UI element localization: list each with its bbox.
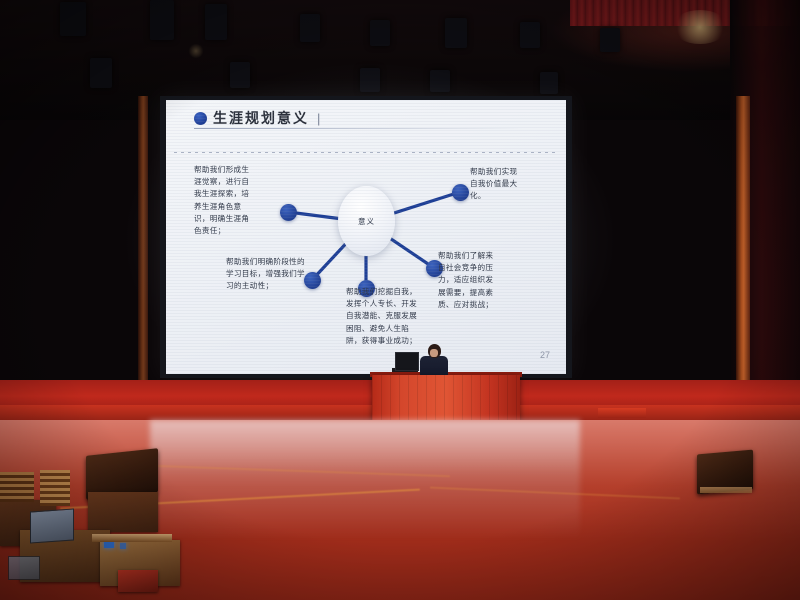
auditorium-scene: 生涯规划意义 | 意义 帮助我们形成生涯觉察，进行自我生涯探索，培养生涯角色意识… <box>0 0 800 600</box>
stage-light <box>540 72 558 94</box>
node-text-left: 帮助我们形成生涯觉察，进行自我生涯探索，培养生涯角色意识，明确生涯角色责任； <box>194 164 256 237</box>
slide-page-number: 27 <box>540 350 550 360</box>
stage-light <box>600 28 620 52</box>
mindmap-node-bottom-left <box>304 272 321 289</box>
node-text-bottom-left: 帮助我们明确阶段性的学习目标，增强我们学习的主动性； <box>226 256 306 293</box>
mindmap-hub: 意义 <box>338 186 395 256</box>
mindmap-node-left <box>280 204 297 221</box>
lighting-truss <box>0 0 800 100</box>
stage-light <box>60 2 86 36</box>
stage-light <box>150 0 174 40</box>
rack-unit <box>0 472 34 502</box>
lit-stage-light-glow <box>672 10 728 44</box>
stage-step <box>598 408 646 418</box>
stage-light <box>230 62 250 88</box>
speaker-wedge-base <box>700 487 752 493</box>
projection-screen: 生涯规划意义 | 意义 帮助我们形成生涯觉察，进行自我生涯探索，培养生涯角色意识… <box>166 100 566 374</box>
stage-light <box>90 58 112 88</box>
stage-light <box>300 14 320 42</box>
presenter-face <box>430 349 438 357</box>
mixer-indicator-light <box>120 543 126 549</box>
laptop-screen <box>395 352 419 371</box>
stage-light <box>370 20 390 46</box>
podium <box>372 375 520 420</box>
red-road-case <box>118 570 158 592</box>
node-text-bottom-center: 帮助我们挖掘自我，发挥个人专长、开发自我潜能、克服发展困阻、避免人生陷阱，获得事… <box>346 286 420 347</box>
mixing-console <box>92 534 172 542</box>
monitor-display <box>30 508 74 543</box>
equipment-case <box>88 492 158 532</box>
node-text-bottom-right: 帮助我们了解来自社会竞争的压力，适应组织发展需要，提高素质、应对挑战； <box>438 250 498 311</box>
hub-label: 意义 <box>358 216 375 227</box>
stage-light <box>445 18 467 48</box>
node-text-right: 帮助我们实现自我价值最大化。 <box>470 166 522 203</box>
rack-unit <box>40 470 70 506</box>
stage-light <box>360 68 380 92</box>
mindmap-node-right <box>452 184 469 201</box>
stage-light <box>520 22 540 48</box>
stage-light <box>205 4 227 40</box>
lit-stage-light-glow <box>188 44 204 58</box>
monitor-display <box>8 556 40 580</box>
stage-light <box>430 70 450 92</box>
